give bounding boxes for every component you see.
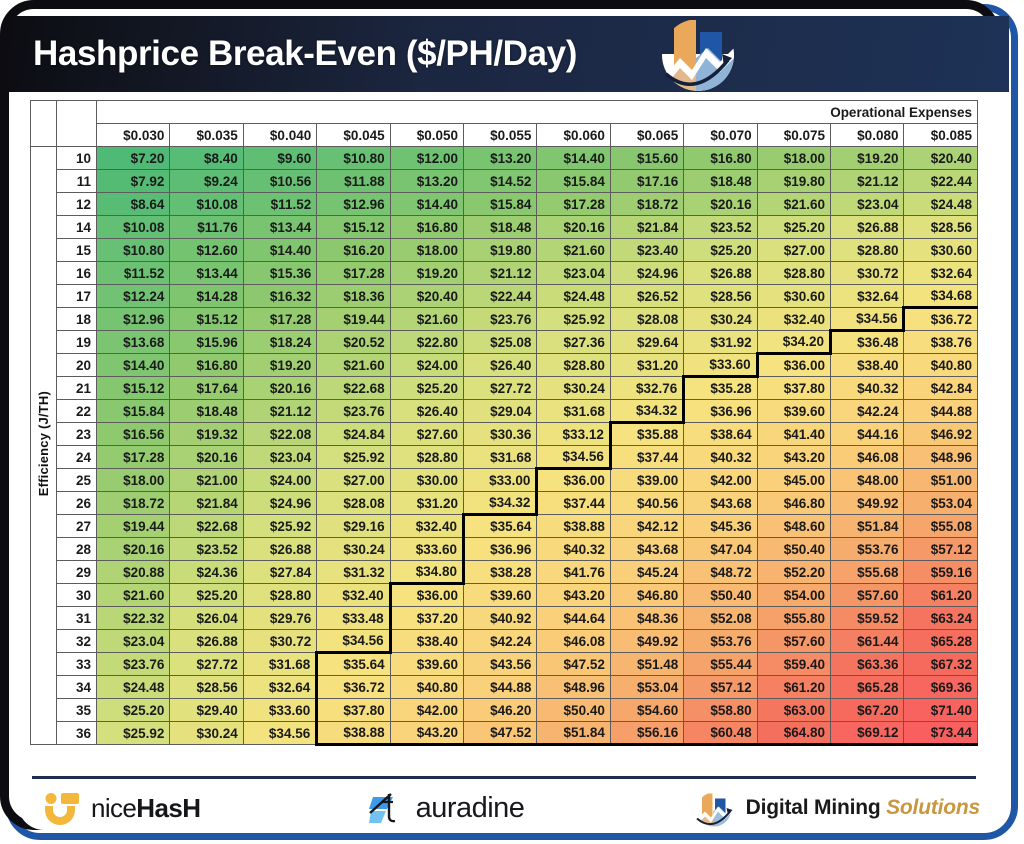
row-header-efficiency-35: 35 [57,699,97,722]
cell-17-6: $24.48 [537,285,610,308]
cell-14-4: $16.80 [390,216,463,239]
cell-35-1: $29.40 [170,699,243,722]
cell-20-4: $24.00 [390,354,463,377]
cell-26-1: $21.84 [170,492,243,515]
cell-16-11: $32.64 [904,262,978,285]
row-header-efficiency-29: 29 [57,561,97,584]
cell-15-1: $12.60 [170,239,243,262]
cell-15-0: $10.80 [97,239,170,262]
cell-27-5: $35.64 [464,515,537,538]
cell-30-7: $46.80 [610,584,683,607]
cell-25-8: $42.00 [684,469,757,492]
cell-36-6: $51.84 [537,722,610,745]
cell-30-2: $28.80 [243,584,316,607]
column-header-opex-7: $0.065 [610,124,683,147]
cell-32-10: $61.44 [831,630,904,653]
table-row: 35$25.20$29.40$33.60$37.80$42.00$46.20$5… [31,699,978,722]
cell-33-4: $39.60 [390,653,463,676]
cell-29-0: $20.88 [97,561,170,584]
row-axis-label-text: Efficiency (J/TH) [36,391,51,496]
table-row: 15$10.80$12.60$14.40$16.20$18.00$19.80$2… [31,239,978,262]
breakeven-table: Operational Expenses$0.030$0.035$0.040$0… [30,100,978,746]
cell-27-2: $25.92 [243,515,316,538]
row-header-efficiency-12: 12 [57,193,97,216]
row-header-efficiency-34: 34 [57,676,97,699]
cell-12-7: $18.72 [610,193,683,216]
cell-16-1: $13.44 [170,262,243,285]
cell-25-4: $30.00 [390,469,463,492]
cell-36-0: $25.92 [97,722,170,745]
cell-18-3: $19.44 [317,308,390,331]
row-header-efficiency-31: 31 [57,607,97,630]
cell-10-4: $12.00 [390,147,463,170]
table-row: 25$18.00$21.00$24.00$27.00$30.00$33.00$3… [31,469,978,492]
dms-wordmark: Digital Mining Solutions [746,796,980,820]
cell-18-6: $25.92 [537,308,610,331]
cell-31-11: $63.24 [904,607,978,630]
cell-28-7: $43.68 [610,538,683,561]
cell-10-9: $18.00 [757,147,830,170]
column-header-opex-10: $0.080 [831,124,904,147]
column-header-opex-2: $0.040 [243,124,316,147]
cell-12-2: $11.52 [243,193,316,216]
cell-24-3: $25.92 [317,446,390,469]
cell-34-7: $53.04 [610,676,683,699]
cell-11-5: $14.52 [464,170,537,193]
cell-33-1: $27.72 [170,653,243,676]
cell-24-11: $48.96 [904,446,978,469]
column-header-opex-6: $0.060 [537,124,610,147]
cell-17-10: $32.64 [831,285,904,308]
cell-34-9: $61.20 [757,676,830,699]
cell-23-6: $33.12 [537,423,610,446]
cell-25-7: $39.00 [610,469,683,492]
cell-35-9: $63.00 [757,699,830,722]
cell-30-6: $43.20 [537,584,610,607]
row-header-efficiency-30: 30 [57,584,97,607]
cell-14-5: $18.48 [464,216,537,239]
cell-30-11: $61.20 [904,584,978,607]
cell-30-5: $39.60 [464,584,537,607]
cell-28-8: $47.04 [684,538,757,561]
title-banner: Hashprice Break-Even ($/PH/Day) [9,16,1009,92]
row-header-efficiency-18: 18 [57,308,97,331]
cell-27-3: $29.16 [317,515,390,538]
table-row: 32$23.04$26.88$30.72$34.56$38.40$42.24$4… [31,630,978,653]
cell-24-5: $31.68 [464,446,537,469]
cell-30-8: $50.40 [684,584,757,607]
cell-21-0: $15.12 [97,377,170,400]
cell-18-1: $15.12 [170,308,243,331]
cell-35-4: $42.00 [390,699,463,722]
table-row: 34$24.48$28.56$32.64$36.72$40.80$44.88$4… [31,676,978,699]
cell-27-10: $51.84 [831,515,904,538]
cell-16-6: $23.04 [537,262,610,285]
cell-18-2: $17.28 [243,308,316,331]
cell-14-7: $21.84 [610,216,683,239]
cell-32-3: $34.56 [317,630,390,653]
cell-26-8: $43.68 [684,492,757,515]
row-header-efficiency-19: 19 [57,331,97,354]
cell-16-0: $11.52 [97,262,170,285]
cell-30-9: $54.00 [757,584,830,607]
cell-33-3: $35.64 [317,653,390,676]
cell-24-2: $23.04 [243,446,316,469]
cell-16-9: $28.80 [757,262,830,285]
cell-23-8: $38.64 [684,423,757,446]
cell-10-3: $10.80 [317,147,390,170]
cell-25-3: $27.00 [317,469,390,492]
cell-15-8: $25.20 [684,239,757,262]
cell-29-8: $48.72 [684,561,757,584]
table-row: 22$15.84$18.48$21.12$23.76$26.40$29.04$3… [31,400,978,423]
auradine-logo: auradine [367,789,525,827]
cell-21-11: $42.84 [904,377,978,400]
cell-27-7: $42.12 [610,515,683,538]
cell-26-11: $53.04 [904,492,978,515]
page-root: Hashprice Break-Even ($/PH/Day) Operatio… [0,0,1024,844]
cell-29-6: $41.76 [537,561,610,584]
cell-33-7: $51.48 [610,653,683,676]
cell-16-7: $24.96 [610,262,683,285]
cell-17-5: $22.44 [464,285,537,308]
table-row: 36$25.92$30.24$34.56$38.88$43.20$47.52$5… [31,722,978,745]
cell-21-1: $17.64 [170,377,243,400]
cell-28-1: $23.52 [170,538,243,561]
cell-31-5: $40.92 [464,607,537,630]
cell-35-0: $25.20 [97,699,170,722]
nicehash-smiley-icon [42,791,82,825]
cell-25-10: $48.00 [831,469,904,492]
cell-18-9: $32.40 [757,308,830,331]
cell-28-10: $53.76 [831,538,904,561]
cell-20-3: $21.60 [317,354,390,377]
cell-22-10: $42.24 [831,400,904,423]
cell-10-10: $19.20 [831,147,904,170]
cell-22-0: $15.84 [97,400,170,423]
footer-divider [32,776,976,779]
cell-11-2: $10.56 [243,170,316,193]
column-header-opex-11: $0.085 [904,124,978,147]
cell-18-11: $36.72 [904,308,978,331]
cell-14-1: $11.76 [170,216,243,239]
cell-12-5: $15.84 [464,193,537,216]
table-row: 27$19.44$22.68$25.92$29.16$32.40$35.64$3… [31,515,978,538]
cell-22-2: $21.12 [243,400,316,423]
cell-34-6: $48.96 [537,676,610,699]
cell-17-9: $30.60 [757,285,830,308]
cell-18-5: $23.76 [464,308,537,331]
cell-21-5: $27.72 [464,377,537,400]
cell-15-4: $18.00 [390,239,463,262]
cell-18-8: $30.24 [684,308,757,331]
table-corner-blank-2 [57,101,97,147]
cell-14-3: $15.12 [317,216,390,239]
cell-29-11: $59.16 [904,561,978,584]
column-header-opex-0: $0.030 [97,124,170,147]
cell-28-0: $20.16 [97,538,170,561]
row-header-efficiency-10: 10 [57,147,97,170]
cell-16-2: $15.36 [243,262,316,285]
column-header-opex-3: $0.045 [317,124,390,147]
row-header-efficiency-22: 22 [57,400,97,423]
cell-20-7: $31.20 [610,354,683,377]
cell-21-7: $32.76 [610,377,683,400]
cell-34-2: $32.64 [243,676,316,699]
cell-23-3: $24.84 [317,423,390,446]
table-row: 23$16.56$19.32$22.08$24.84$27.60$30.36$3… [31,423,978,446]
cell-12-3: $12.96 [317,193,390,216]
cell-28-3: $30.24 [317,538,390,561]
cell-31-8: $52.08 [684,607,757,630]
cell-36-7: $56.16 [610,722,683,745]
table-row: 28$20.16$23.52$26.88$30.24$33.60$36.96$4… [31,538,978,561]
nicehash-wordmark: niceHasH [91,793,200,824]
cell-31-0: $22.32 [97,607,170,630]
table-row: 18$12.96$15.12$17.28$19.44$21.60$23.76$2… [31,308,978,331]
cell-26-2: $24.96 [243,492,316,515]
table-row: 19$13.68$15.96$18.24$20.52$22.80$25.08$2… [31,331,978,354]
cell-19-10: $36.48 [831,331,904,354]
table-row: 20$14.40$16.80$19.20$21.60$24.00$26.40$2… [31,354,978,377]
cell-36-10: $69.12 [831,722,904,745]
cell-29-1: $24.36 [170,561,243,584]
cell-25-6: $36.00 [537,469,610,492]
cell-14-6: $20.16 [537,216,610,239]
cell-15-3: $16.20 [317,239,390,262]
cell-12-4: $14.40 [390,193,463,216]
cell-32-11: $65.28 [904,630,978,653]
cell-23-0: $16.56 [97,423,170,446]
cell-27-8: $45.36 [684,515,757,538]
cell-35-10: $67.20 [831,699,904,722]
cell-32-1: $26.88 [170,630,243,653]
cell-31-3: $33.48 [317,607,390,630]
cell-28-2: $26.88 [243,538,316,561]
cell-34-5: $44.88 [464,676,537,699]
cell-36-3: $38.88 [317,722,390,745]
cell-20-11: $40.80 [904,354,978,377]
cell-32-2: $30.72 [243,630,316,653]
cell-11-8: $18.48 [684,170,757,193]
cell-19-3: $20.52 [317,331,390,354]
cell-14-9: $25.20 [757,216,830,239]
cell-11-3: $11.88 [317,170,390,193]
cell-33-0: $23.76 [97,653,170,676]
cell-34-8: $57.12 [684,676,757,699]
cell-33-9: $59.40 [757,653,830,676]
cell-11-7: $17.16 [610,170,683,193]
cell-27-9: $48.60 [757,515,830,538]
cell-31-10: $59.52 [831,607,904,630]
cell-23-7: $35.88 [610,423,683,446]
cell-16-5: $21.12 [464,262,537,285]
table-row: 29$20.88$24.36$27.84$31.32$34.80$38.28$4… [31,561,978,584]
cell-21-3: $22.68 [317,377,390,400]
table-body: Operational Expenses$0.030$0.035$0.040$0… [31,101,978,745]
auradine-mark-icon [367,789,407,827]
cell-23-5: $30.36 [464,423,537,446]
cell-12-6: $17.28 [537,193,610,216]
cell-31-6: $44.64 [537,607,610,630]
cell-20-8: $33.60 [684,354,757,377]
cell-12-8: $20.16 [684,193,757,216]
cell-35-7: $54.60 [610,699,683,722]
cell-12-1: $10.08 [170,193,243,216]
cell-28-4: $33.60 [390,538,463,561]
cell-14-2: $13.44 [243,216,316,239]
cell-36-5: $47.52 [464,722,537,745]
row-header-efficiency-33: 33 [57,653,97,676]
cell-36-4: $43.20 [390,722,463,745]
cell-35-3: $37.80 [317,699,390,722]
cell-15-11: $30.60 [904,239,978,262]
cell-23-10: $44.16 [831,423,904,446]
table-row: 16$11.52$13.44$15.36$17.28$19.20$21.12$2… [31,262,978,285]
cell-26-5: $34.32 [464,492,537,515]
cell-12-10: $23.04 [831,193,904,216]
cell-32-4: $38.40 [390,630,463,653]
cell-11-1: $9.24 [170,170,243,193]
cell-23-11: $46.92 [904,423,978,446]
row-header-efficiency-24: 24 [57,446,97,469]
cell-32-9: $57.60 [757,630,830,653]
cell-11-0: $7.92 [97,170,170,193]
cell-19-6: $27.36 [537,331,610,354]
cell-10-8: $16.80 [684,147,757,170]
cell-24-0: $17.28 [97,446,170,469]
cell-36-2: $34.56 [243,722,316,745]
cell-14-8: $23.52 [684,216,757,239]
row-header-efficiency-21: 21 [57,377,97,400]
cell-26-0: $18.72 [97,492,170,515]
table-row: 24$17.28$20.16$23.04$25.92$28.80$31.68$3… [31,446,978,469]
cell-14-11: $28.56 [904,216,978,239]
nicehash-text-light: nice [91,793,136,823]
cell-11-4: $13.20 [390,170,463,193]
cell-24-8: $40.32 [684,446,757,469]
table-row: 26$18.72$21.84$24.96$28.08$31.20$34.32$3… [31,492,978,515]
cell-22-1: $18.48 [170,400,243,423]
cell-22-9: $39.60 [757,400,830,423]
cell-29-7: $45.24 [610,561,683,584]
row-header-efficiency-15: 15 [57,239,97,262]
cell-19-0: $13.68 [97,331,170,354]
cell-10-11: $20.40 [904,147,978,170]
cell-19-4: $22.80 [390,331,463,354]
cell-16-3: $17.28 [317,262,390,285]
nicehash-logo: niceHasH [42,791,200,825]
cell-17-1: $14.28 [170,285,243,308]
cell-26-10: $49.92 [831,492,904,515]
row-axis-label: Efficiency (J/TH) [31,147,57,745]
heatmap-table-wrapper: Operational Expenses$0.030$0.035$0.040$0… [30,100,978,746]
cell-25-0: $18.00 [97,469,170,492]
cell-29-10: $55.68 [831,561,904,584]
cell-32-6: $46.08 [537,630,610,653]
row-header-efficiency-20: 20 [57,354,97,377]
cell-16-10: $30.72 [831,262,904,285]
cell-30-10: $57.60 [831,584,904,607]
cell-11-10: $21.12 [831,170,904,193]
cell-19-8: $31.92 [684,331,757,354]
cell-31-9: $55.80 [757,607,830,630]
cell-28-9: $50.40 [757,538,830,561]
auradine-wordmark: auradine [416,792,525,825]
cell-36-11: $73.44 [904,722,978,745]
cell-23-4: $27.60 [390,423,463,446]
table-row: 21$15.12$17.64$20.16$22.68$25.20$27.72$3… [31,377,978,400]
cell-18-0: $12.96 [97,308,170,331]
cell-26-6: $37.44 [537,492,610,515]
row-header-efficiency-26: 26 [57,492,97,515]
dms-text-italic: Solutions [886,796,980,819]
cell-33-5: $43.56 [464,653,537,676]
cell-15-2: $14.40 [243,239,316,262]
cell-30-4: $36.00 [390,584,463,607]
cell-17-8: $28.56 [684,285,757,308]
digital-mining-solutions-logo: Digital Mining Solutions [691,788,980,828]
cell-31-4: $37.20 [390,607,463,630]
cell-34-11: $69.36 [904,676,978,699]
cell-12-11: $24.48 [904,193,978,216]
cell-27-1: $22.68 [170,515,243,538]
cell-15-10: $28.80 [831,239,904,262]
cell-29-5: $38.28 [464,561,537,584]
dms-chart-icon [691,788,737,828]
cell-19-1: $15.96 [170,331,243,354]
cell-23-2: $22.08 [243,423,316,446]
cell-32-0: $23.04 [97,630,170,653]
cell-17-7: $26.52 [610,285,683,308]
cell-25-9: $45.00 [757,469,830,492]
cell-24-7: $37.44 [610,446,683,469]
table-row: 17$12.24$14.28$16.32$18.36$20.40$22.44$2… [31,285,978,308]
footer-logos: niceHasH auradine [14,780,1008,836]
cell-12-0: $8.64 [97,193,170,216]
table-corner-blank [31,101,57,147]
cell-31-2: $29.76 [243,607,316,630]
cell-22-5: $29.04 [464,400,537,423]
cell-30-3: $32.40 [317,584,390,607]
column-header-opex-1: $0.035 [170,124,243,147]
cell-27-0: $19.44 [97,515,170,538]
cell-26-3: $28.08 [317,492,390,515]
cell-17-4: $20.40 [390,285,463,308]
cell-34-0: $24.48 [97,676,170,699]
cell-29-4: $34.80 [390,561,463,584]
cell-11-11: $22.44 [904,170,978,193]
cell-31-1: $26.04 [170,607,243,630]
row-header-efficiency-23: 23 [57,423,97,446]
cell-23-1: $19.32 [170,423,243,446]
cell-28-11: $57.12 [904,538,978,561]
cell-14-0: $10.08 [97,216,170,239]
cell-16-8: $26.88 [684,262,757,285]
table-row: 14$10.08$11.76$13.44$15.12$16.80$18.48$2… [31,216,978,239]
cell-33-11: $67.32 [904,653,978,676]
cell-28-5: $36.96 [464,538,537,561]
cell-19-7: $29.64 [610,331,683,354]
cell-33-6: $47.52 [537,653,610,676]
column-header-opex-5: $0.055 [464,124,537,147]
cell-15-7: $23.40 [610,239,683,262]
cell-10-5: $13.20 [464,147,537,170]
cell-11-6: $15.84 [537,170,610,193]
cell-21-2: $20.16 [243,377,316,400]
row-header-efficiency-28: 28 [57,538,97,561]
cell-11-9: $19.80 [757,170,830,193]
